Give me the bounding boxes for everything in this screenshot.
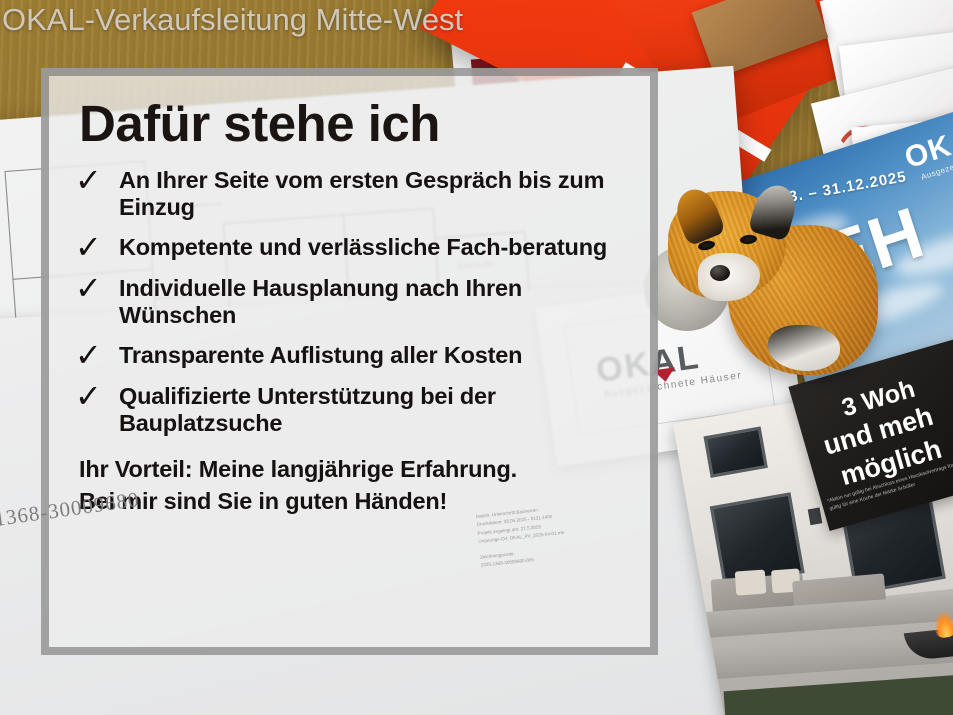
content-panel: Dafür stehe ich ✓ An Ihrer Seite vom ers… bbox=[41, 68, 658, 655]
checkmark-icon: ✓ bbox=[75, 381, 105, 411]
list-item: ✓ Transparente Auflistung aller Kosten bbox=[75, 342, 634, 370]
list-item-label: An Ihrer Seite vom ersten Gespräch bis z… bbox=[119, 167, 634, 221]
checkmark-icon: ✓ bbox=[75, 273, 105, 303]
list-item-label: Individuelle Hausplanung nach Ihren Wüns… bbox=[119, 275, 634, 329]
benefit-list: ✓ An Ihrer Seite vom ersten Gespräch bis… bbox=[75, 167, 634, 436]
photo-wall-lamp bbox=[808, 507, 823, 525]
fox-ear-left bbox=[670, 183, 727, 246]
checkmark-icon: ✓ bbox=[75, 340, 105, 370]
list-item: ✓ Kompetente und verlässliche Fach-berat… bbox=[75, 234, 634, 262]
list-item-label: Kompetente und verlässliche Fach-beratun… bbox=[119, 234, 607, 261]
page-title: OKAL-Verkaufsleitung Mitte-West bbox=[2, 2, 463, 38]
fox-nose bbox=[710, 265, 730, 281]
checkmark-icon: ✓ bbox=[75, 232, 105, 262]
photo-lawn bbox=[724, 670, 953, 715]
photo-cushion bbox=[735, 570, 767, 596]
footer-line-1: Ihr Vorteil: Meine langjährige Erfahrung… bbox=[79, 454, 634, 485]
fox-muzzle bbox=[698, 253, 760, 301]
brochure-brand-logo: OKA Ausgezeichn bbox=[901, 122, 953, 184]
fox-eye-right bbox=[740, 234, 758, 245]
list-item: ✓ An Ihrer Seite vom ersten Gespräch bis… bbox=[75, 167, 634, 221]
fox-plush-figurine bbox=[650, 175, 880, 390]
list-item-label: Transparente Auflistung aller Kosten bbox=[119, 342, 522, 369]
checkmark-icon: ✓ bbox=[75, 165, 105, 195]
panel-heading: Dafür stehe ich bbox=[79, 98, 634, 149]
list-item-label: Qualifizierte Unterstützung bei der Baup… bbox=[119, 383, 634, 437]
list-item: ✓ Qualifizierte Unterstützung bei der Ba… bbox=[75, 383, 634, 437]
list-item: ✓ Individuelle Hausplanung nach Ihren Wü… bbox=[75, 275, 634, 329]
